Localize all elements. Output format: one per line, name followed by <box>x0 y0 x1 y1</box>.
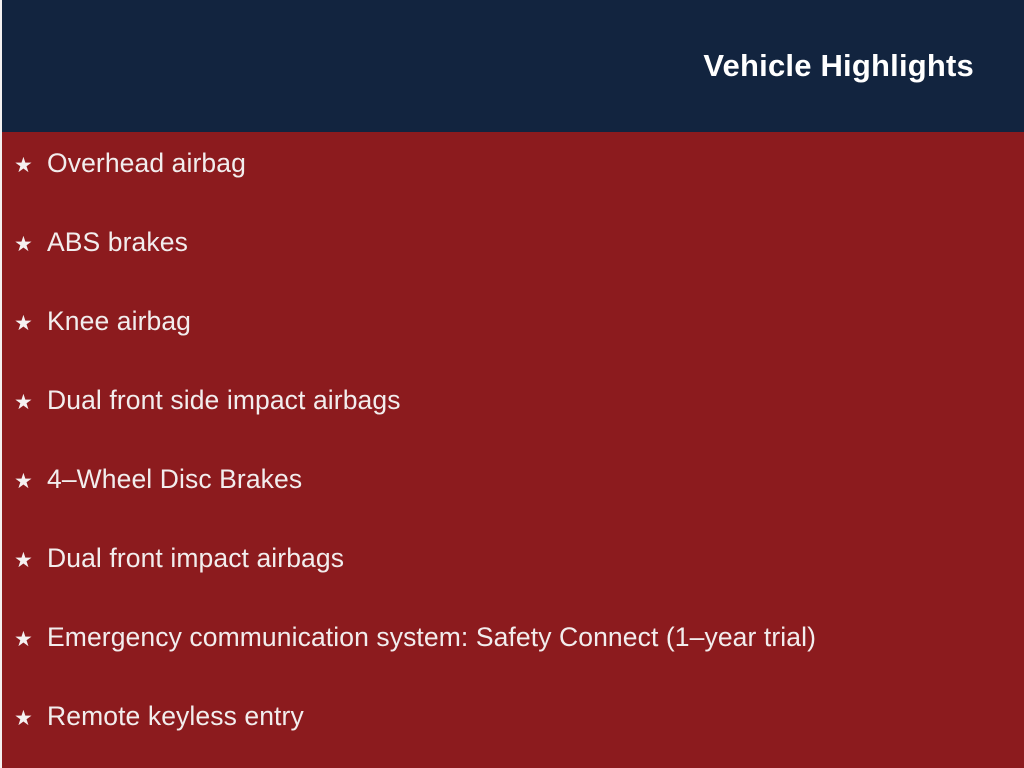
list-item: ★ Remote keyless entry <box>2 701 1024 768</box>
list-item-label: Dual front side impact airbags <box>47 385 1024 415</box>
list-item: ★ Dual front impact airbags <box>2 543 1024 622</box>
star-bullet-icon: ★ <box>14 629 47 650</box>
star-bullet-icon: ★ <box>14 471 47 492</box>
star-bullet-icon: ★ <box>14 550 47 571</box>
list-item-label: 4–Wheel Disc Brakes <box>47 464 1024 494</box>
list-item-label: Remote keyless entry <box>47 701 1024 731</box>
page-title: Vehicle Highlights <box>703 49 974 83</box>
list-item: ★ Knee airbag <box>2 306 1024 385</box>
star-bullet-icon: ★ <box>14 392 47 413</box>
list-item-label: Overhead airbag <box>47 148 1024 178</box>
list-item: ★ ABS brakes <box>2 227 1024 306</box>
list-item: ★ Emergency communication system: Safety… <box>2 622 1024 701</box>
list-item-label: ABS brakes <box>47 227 1024 257</box>
list-item: ★ Dual front side impact airbags <box>2 385 1024 464</box>
star-bullet-icon: ★ <box>14 708 47 729</box>
list-item: ★ 4–Wheel Disc Brakes <box>2 464 1024 543</box>
slide-header-band: Vehicle Highlights <box>2 0 1024 132</box>
star-bullet-icon: ★ <box>14 313 47 334</box>
list-item-label: Emergency communication system: Safety C… <box>47 622 1024 652</box>
list-item-label: Dual front impact airbags <box>47 543 1024 573</box>
list-item: ★ Overhead airbag <box>2 148 1024 227</box>
list-item-label: Knee airbag <box>47 306 1024 336</box>
vehicle-highlights-slide: Vehicle Highlights ★ Overhead airbag ★ A… <box>0 0 1024 768</box>
star-bullet-icon: ★ <box>14 155 47 176</box>
highlights-list: ★ Overhead airbag ★ ABS brakes ★ Knee ai… <box>2 132 1024 768</box>
star-bullet-icon: ★ <box>14 234 47 255</box>
